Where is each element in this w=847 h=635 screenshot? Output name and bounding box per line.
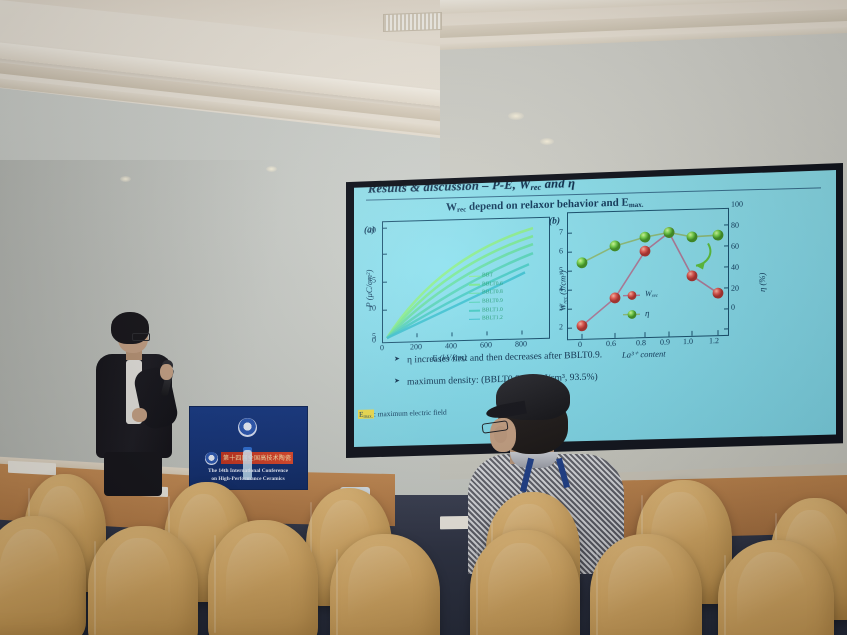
chart-b-ytick: 5 xyxy=(559,265,563,274)
chart-b-series xyxy=(568,209,728,339)
slide-title-subscript: rec xyxy=(531,183,542,192)
panel-b-tag: (b) xyxy=(549,216,560,226)
chart-b-plot-area: Wrec η xyxy=(567,208,729,340)
ceiling-downlight xyxy=(266,166,277,172)
chart-b-ytick: 2 xyxy=(559,322,563,331)
chart-b-legend-wrec: Wrec xyxy=(645,289,658,299)
ceiling-downlight xyxy=(120,176,131,182)
chart-a-xtick: 0 xyxy=(380,343,384,352)
chart-b-ytick: 7 xyxy=(559,227,563,236)
chart-a-ytick: 0 xyxy=(372,335,376,344)
chart-b-xtick: 0.9 xyxy=(660,337,670,346)
chart-b-xtick: 1.2 xyxy=(709,336,719,345)
chart-a-ytick: 20 xyxy=(368,225,376,234)
conference-emblem-icon xyxy=(238,418,257,437)
presenter-hair-fringe xyxy=(112,315,148,332)
conference-room-photo: Results & discussion – P-E, Wrec and η W… xyxy=(0,0,847,635)
chair xyxy=(208,520,318,635)
chart-b-y2tick: 80 xyxy=(731,221,739,230)
chart-b-ytick: 3 xyxy=(559,303,563,312)
ceiling-air-vent xyxy=(383,12,442,32)
presenter-trousers xyxy=(104,452,162,496)
presenter-glasses xyxy=(132,333,150,341)
chart-a-curves xyxy=(383,218,549,342)
slide-bullet: η increases first and then decreases aft… xyxy=(394,344,814,366)
chair xyxy=(0,516,86,635)
chart-a-xtick: 600 xyxy=(480,340,492,349)
chart-a-xtick: 400 xyxy=(445,341,457,350)
chart-a-plot-area: BBT BBLT0.6 BBLT0.8 BBLT0.9 BBLT1.0 BBLT… xyxy=(382,217,550,344)
footnote-highlight: Emax. xyxy=(358,409,374,418)
chart-b-y2tick: 60 xyxy=(731,242,739,251)
presenter-hand xyxy=(160,364,173,380)
chart-b-y2label: η (%) xyxy=(757,252,767,292)
chart-b-y2tick: 40 xyxy=(731,263,739,272)
presenter-speaker xyxy=(88,312,184,494)
chinese-banner-text: 第十四届全国高技术陶瓷学术会议 xyxy=(223,453,291,462)
chart-a-ylabel: P (μC/cm²) xyxy=(364,253,374,307)
chart-a-legend: BBT BBLT0.6 BBLT0.8 BBLT0.9 BBLT1.0 BBLT… xyxy=(469,271,503,324)
podium-english-line-1: The 14th International Conference xyxy=(196,468,300,474)
chart-b-ytick: 4 xyxy=(559,284,563,293)
chart-b-y2tick: 0 xyxy=(731,303,735,312)
legend-item: BBLT1.2 xyxy=(469,314,503,324)
ceiling-downlight xyxy=(508,112,524,120)
ceiling-downlight xyxy=(540,138,554,145)
chair xyxy=(88,526,198,635)
chart-a-xtick: 800 xyxy=(515,339,527,348)
presenter-hand-lower xyxy=(132,408,147,422)
chart-b-y2tick: 20 xyxy=(731,284,739,293)
chart-b-xtick: 0 xyxy=(578,340,582,349)
chart-b-xtick: 0.6 xyxy=(606,339,616,348)
chart-b-y2tick: 100 xyxy=(731,199,743,208)
chart-b-ytick: 6 xyxy=(559,246,563,255)
chair xyxy=(590,534,702,635)
chair xyxy=(470,530,580,635)
chart-b-xtick: 1.0 xyxy=(683,337,693,346)
chair xyxy=(718,540,834,635)
chart-b-xtick: 0.8 xyxy=(636,338,646,347)
slide-footnote: Emax.: maximum electric field xyxy=(358,407,447,419)
chart-a-xtick: 200 xyxy=(410,342,422,351)
conference-emblem-small-icon xyxy=(205,452,218,465)
chair xyxy=(330,534,440,635)
chart-b-legend-eta: η xyxy=(645,308,649,318)
